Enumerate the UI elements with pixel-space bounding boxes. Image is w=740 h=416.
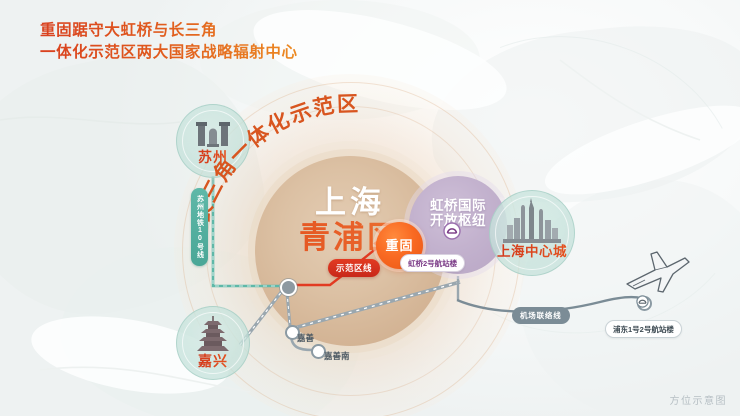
hongqiao-label-line-1: 虹桥国际 (407, 198, 509, 213)
arc-title: 长三角一体化示范区 (180, 68, 520, 408)
page-title: 重固踞守大虹桥与长三角 一体化示范区两大国家战略辐射中心 (40, 20, 298, 64)
watermark: 方位示意图 (670, 392, 728, 407)
zhonggu-node-label: 重固 (385, 239, 413, 253)
station-label-pudong-terminals[interactable]: 浦东1号2号航站楼 (605, 320, 682, 338)
airplane-icon (615, 248, 695, 300)
headline-line-2: 一体化示范区两大国家战略辐射中心 (40, 42, 298, 64)
demonstration-zone-line-badge[interactable]: 示范区线 (328, 259, 380, 277)
map-road (560, 60, 700, 140)
location-diagram: 重固踞守大虹桥与长三角 一体化示范区两大国家战略辐射中心 长三角一体化示范区 (0, 0, 740, 416)
map-road (0, 117, 180, 124)
rail-junction-node[interactable] (280, 279, 297, 296)
hongqiao-terminal2-label[interactable]: 虹桥2号航站楼 (400, 254, 465, 272)
station-label-jiashan: 嘉善 (297, 332, 314, 344)
suzhou-metro10-line-label[interactable]: 苏州地铁10号线 (191, 188, 208, 266)
metro-icon (636, 295, 649, 308)
arc-title-textpath: 长三角一体化示范区 (189, 93, 360, 227)
headline-line-1: 重固踞守大虹桥与长三角 (40, 20, 298, 42)
airport-link-line-label[interactable]: 机场联络线 (512, 307, 570, 324)
station-label-jiashannan: 嘉善南 (324, 350, 350, 362)
arc-title-text: 长三角一体化示范区 (189, 93, 360, 227)
metro-icon (443, 222, 461, 240)
